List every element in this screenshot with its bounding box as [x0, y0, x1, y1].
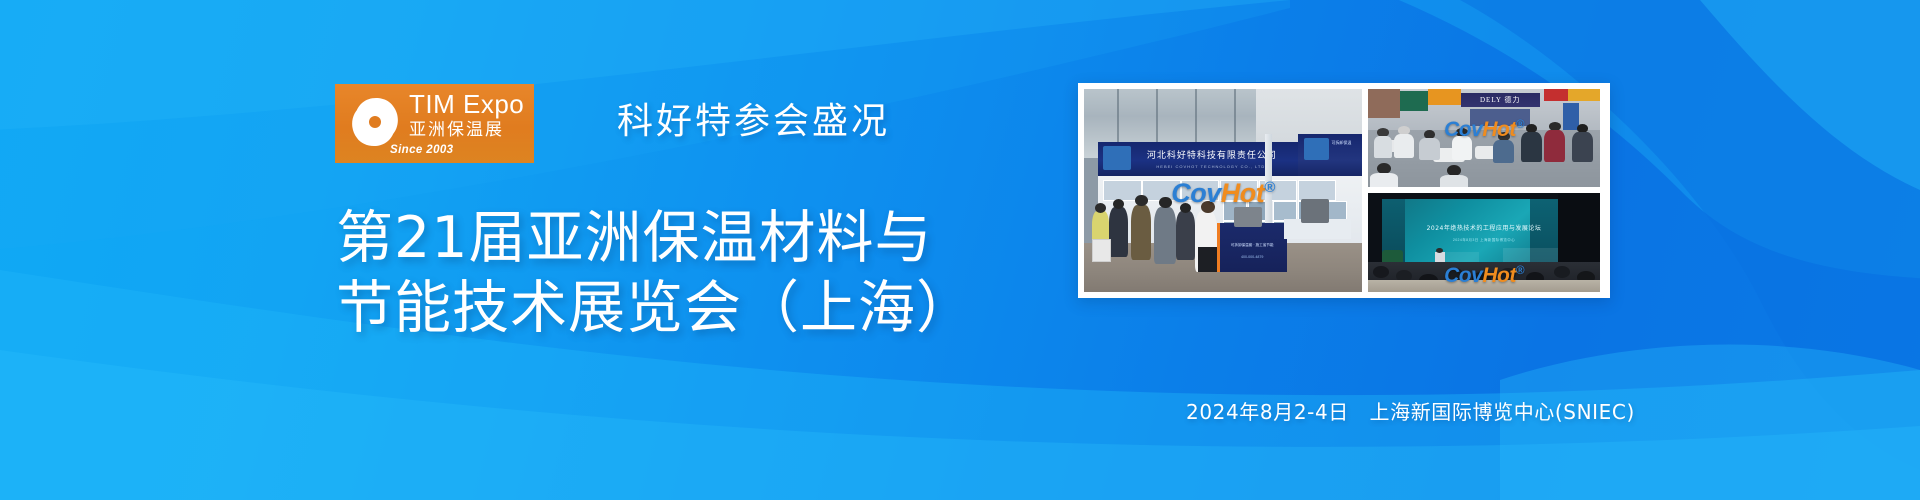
- counter-text: 可拆卸保温套 · 施工省节能: [1229, 243, 1276, 248]
- date-venue-text: 2024年8月2-4日 上海新国际博览中心(SNIEC): [1186, 396, 1635, 425]
- booth-subtitle: HEBEI COVHOT TECHNOLOGY CO., LTD.: [1140, 164, 1285, 169]
- photo-crowd[interactable]: DELY 德力: [1368, 89, 1600, 187]
- dely-sign: DELY 德力: [1461, 93, 1540, 107]
- counter-phone: 400-000-4879: [1229, 255, 1276, 259]
- headline-line-1: 第21届亚洲保温材料与: [336, 203, 974, 273]
- booth-title: 河北科好特科技有限责任公司: [1140, 148, 1285, 161]
- photo-forum-watermark: CovHot®: [1368, 264, 1600, 288]
- logo-subtitle: 亚洲保温展: [409, 122, 524, 139]
- forum-screen-title: 2024年绝热技术的工程应用与发展论坛: [1391, 223, 1577, 232]
- logo-title: TIM Expo: [409, 91, 524, 117]
- tim-expo-logo-badge[interactable]: TIM Expo 亚洲保温展 Since 2003: [335, 84, 534, 163]
- logo-since-text: Since 2003: [390, 144, 453, 156]
- photo-booth[interactable]: 河北科好特科技有限责任公司 HEBEI COVHOT TECHNOLOGY CO…: [1084, 89, 1362, 292]
- headline-line-2: 节能技术展览会（上海）: [336, 273, 974, 343]
- forum-screen-subtitle: 2024年8月3日 上海新国际博览中心: [1414, 238, 1553, 243]
- page-title: 第21届亚洲保温材料与 节能技术展览会（上海）: [336, 203, 974, 343]
- expo-banner: TIM Expo 亚洲保温展 Since 2003 科好特参会盛况 第21届亚洲…: [0, 0, 1920, 500]
- photo-booth-watermark: CovHot®: [1084, 178, 1362, 209]
- photo-collage: 河北科好特科技有限责任公司 HEBEI COVHOT TECHNOLOGY CO…: [1078, 83, 1610, 298]
- photo-forum[interactable]: 2024年绝热技术的工程应用与发展论坛 2024年8月3日 上海新国际博览中心: [1368, 193, 1600, 292]
- photo-crowd-watermark: CovHot®: [1368, 118, 1600, 142]
- collage-right-column: DELY 德力: [1368, 89, 1600, 292]
- kicker-text: 科好特参会盛况: [617, 92, 890, 144]
